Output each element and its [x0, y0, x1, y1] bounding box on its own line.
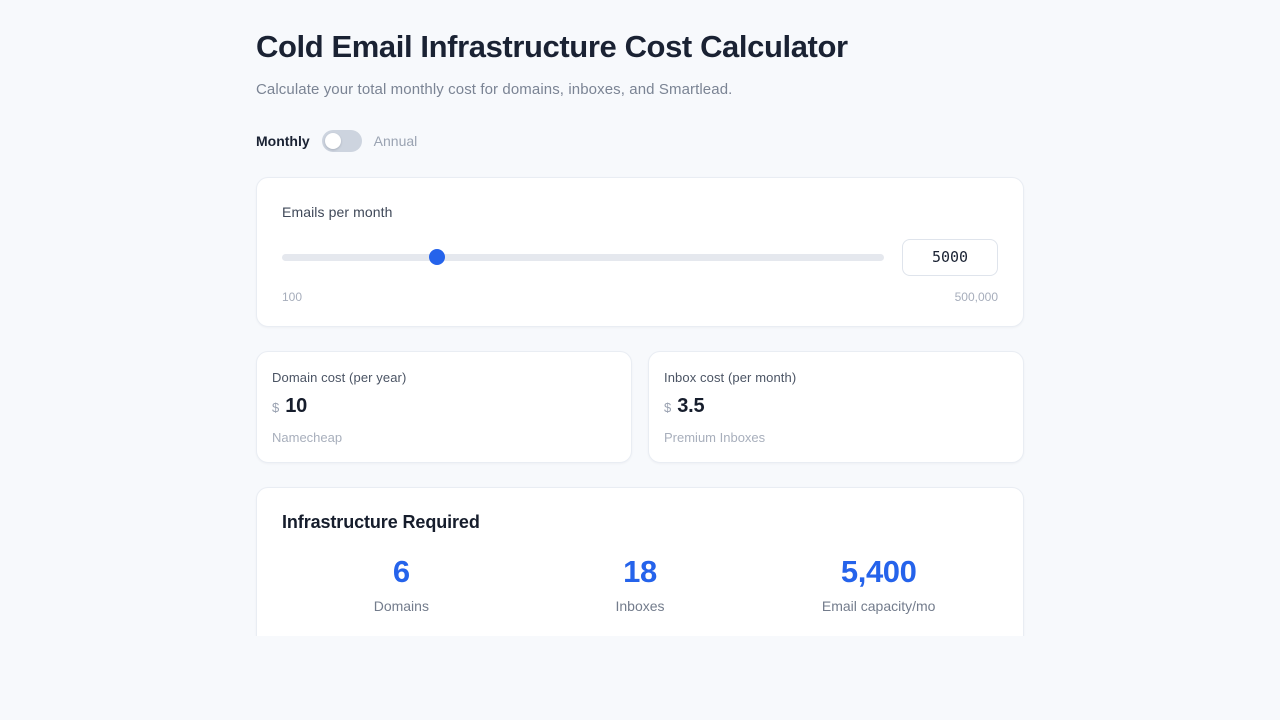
- inbox-cost-card[interactable]: Inbox cost (per month) $ 3.5 Premium Inb…: [648, 351, 1024, 463]
- currency-symbol: $: [272, 400, 279, 415]
- calculator-page: Cold Email Infrastructure Cost Calculato…: [0, 0, 1280, 720]
- domain-cost-note: Namecheap: [272, 430, 616, 445]
- infrastructure-required-card: Infrastructure Required 6 Domains 18 Inb…: [256, 487, 1024, 636]
- toggle-knob: [325, 133, 341, 149]
- stat-email-capacity: 5,400 Email capacity/mo: [759, 555, 998, 614]
- stat-domains-label: Domains: [282, 598, 521, 614]
- content-container: Cold Email Infrastructure Cost Calculato…: [256, 0, 1024, 636]
- emails-per-month-label: Emails per month: [282, 204, 998, 220]
- domain-cost-card[interactable]: Domain cost (per year) $ 10 Namecheap: [256, 351, 632, 463]
- infrastructure-stats: 6 Domains 18 Inboxes 5,400 Email capacit…: [282, 555, 998, 614]
- domain-cost-amount[interactable]: 10: [285, 395, 307, 418]
- inbox-cost-value: $ 3.5: [664, 395, 1008, 418]
- slider-max-label: 500,000: [955, 290, 998, 304]
- stat-email-capacity-label: Email capacity/mo: [759, 598, 998, 614]
- cost-cards-grid: Domain cost (per year) $ 10 Namecheap In…: [256, 351, 1024, 463]
- slider-min-label: 100: [282, 290, 302, 304]
- emails-per-month-card: Emails per month 100 500,000: [256, 177, 1024, 327]
- infrastructure-title: Infrastructure Required: [282, 512, 998, 533]
- inbox-cost-label: Inbox cost (per month): [664, 370, 1008, 385]
- billing-annual-label[interactable]: Annual: [374, 133, 418, 149]
- currency-symbol: $: [664, 400, 671, 415]
- stat-domains-value: 6: [282, 555, 521, 589]
- stat-email-capacity-value: 5,400: [759, 555, 998, 589]
- emails-per-month-slider[interactable]: [282, 247, 884, 267]
- slider-row: [282, 239, 998, 276]
- inbox-cost-note: Premium Inboxes: [664, 430, 1008, 445]
- stat-domains: 6 Domains: [282, 555, 521, 614]
- billing-monthly-label[interactable]: Monthly: [256, 133, 310, 149]
- slider-track: [282, 254, 884, 261]
- billing-period-toggle[interactable]: [322, 130, 362, 152]
- page-title: Cold Email Infrastructure Cost Calculato…: [256, 28, 1024, 66]
- inbox-cost-amount[interactable]: 3.5: [677, 395, 704, 418]
- emails-per-month-input[interactable]: [902, 239, 998, 276]
- stat-inboxes: 18 Inboxes: [521, 555, 760, 614]
- domain-cost-label: Domain cost (per year): [272, 370, 616, 385]
- page-subtitle: Calculate your total monthly cost for do…: [256, 81, 1024, 98]
- slider-thumb[interactable]: [429, 249, 445, 265]
- slider-range-row: 100 500,000: [282, 290, 998, 304]
- stat-inboxes-label: Inboxes: [521, 598, 760, 614]
- scroll-viewport[interactable]: Cold Email Infrastructure Cost Calculato…: [0, 0, 1280, 636]
- domain-cost-value: $ 10: [272, 395, 616, 418]
- stat-inboxes-value: 18: [521, 555, 760, 589]
- billing-period-toggle-row: Monthly Annual: [256, 129, 1024, 153]
